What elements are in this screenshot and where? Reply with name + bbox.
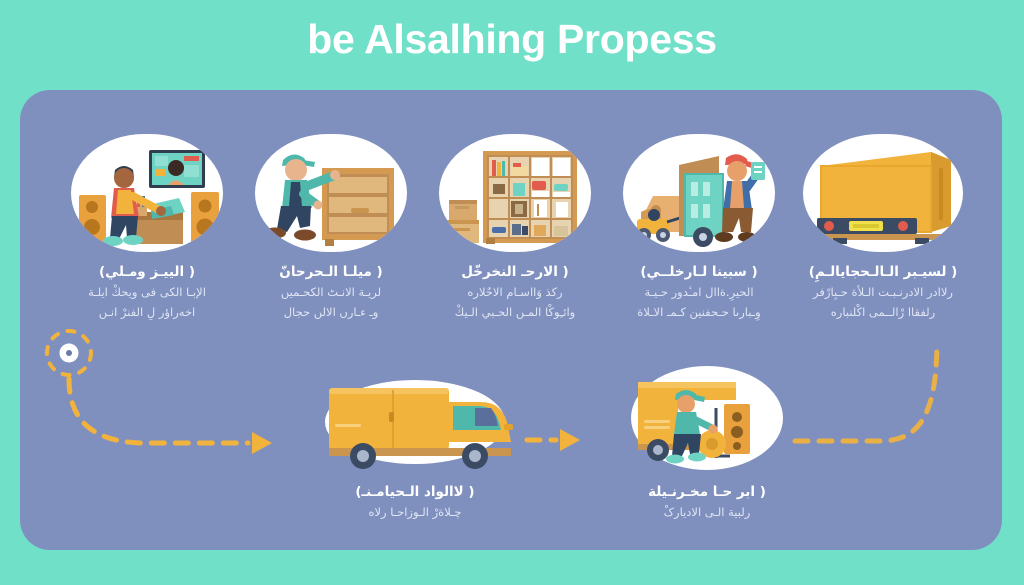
step-1-body-line-1: الإبـا الكى فى ويحكْ ايلـة [59,284,235,301]
step-2-heading: ( ميلـا الـحرحانّ [243,263,419,281]
bottom-step-1-heading: ( لاالواد الـحيامـنـ) [295,483,535,501]
step-card-5[interactable]: ( لسيـبر الـالـحجايالـمِ) رلاادر الادرنـ… [795,134,971,321]
step-3-heading: ( الارحـ النخرخّل [427,263,603,281]
step-1-body-line-2: اخەراؤر لِ الفنرْ انـں [59,304,235,321]
bottom-step-2[interactable]: ( ابر حـا مخـرنـيلة رلبية الـى الاديارکْ [612,364,802,521]
bottom-step-1[interactable]: ( لاالواد الـحيامـنـ) چـلاةرْ الـوزاحـا … [295,372,535,521]
step-5-body-line-2: رلفقاا رْالــمى اكْلنباره [795,304,971,321]
bottom-step-2-body-line-1: رلبية الـى الاديارکْ [612,504,802,521]
page-title: be Alsalhing Propess [0,16,1024,63]
step-card-1[interactable]: ( الييـز ومـلي) الإبـا الكى فى ويحكْ ايل… [59,134,235,321]
step-4-body-line-2: وِـبارىا حـحفنين كـمـ الاـلاة [611,304,787,321]
bottom-step-1-body-line-1: چـلاةرْ الـوزاحـا رلاه [295,504,535,521]
step-2-body-line-2: وـ ءـارں الالں حجال [243,304,419,321]
step-card-2[interactable]: ( ميلـا الـحرحانّ لريـة الانـٹ الكحـميں … [243,134,419,321]
step-card-3[interactable]: ( الارحـ النخرخّل ركذ وَااسـام الاحٌلاره… [427,134,603,321]
step-2-body-line-1: لريـة الانـٹ الكحـميں [243,284,419,301]
step-3-body-line-1: ركذ وَااسـام الاحٌلاره [427,284,603,301]
worker-moving-cabinet-illustration [255,134,407,252]
unloading-worker-illustration [612,364,802,472]
bottom-step-2-heading: ( ابر حـا مخـرنـيلة [612,483,802,501]
infographic-canvas: be Alsalhing Propess [0,0,1024,585]
truck-loading-worker-illustration [623,134,775,252]
step-1-heading: ( الييـز ومـلي) [59,263,235,281]
packing-boxes-illustration [71,134,223,252]
step-4-body-line-1: الحيرِ.ةاال امـٔدور حـيـة [611,284,787,301]
delivery-van-illustration [305,372,525,472]
cargo-container-truck-illustration [803,134,963,252]
step-5-body-line-1: رلاادر الادرنـبـت الـلأة حـبِارْفر [795,284,971,301]
step-5-heading: ( لسيـبر الـالـحجايالـمِ) [795,263,971,281]
step-4-heading: ( سبينا لـارخلــي) [611,263,787,281]
step-card-4[interactable]: ( سبينا لـارخلــي) الحيرِ.ةاال امـٔدور ح… [611,134,787,321]
storage-shelving-illustration [439,134,591,252]
step-3-body-line-2: وائـِوكْا المـں الحـبي الـيكْ [427,304,603,321]
